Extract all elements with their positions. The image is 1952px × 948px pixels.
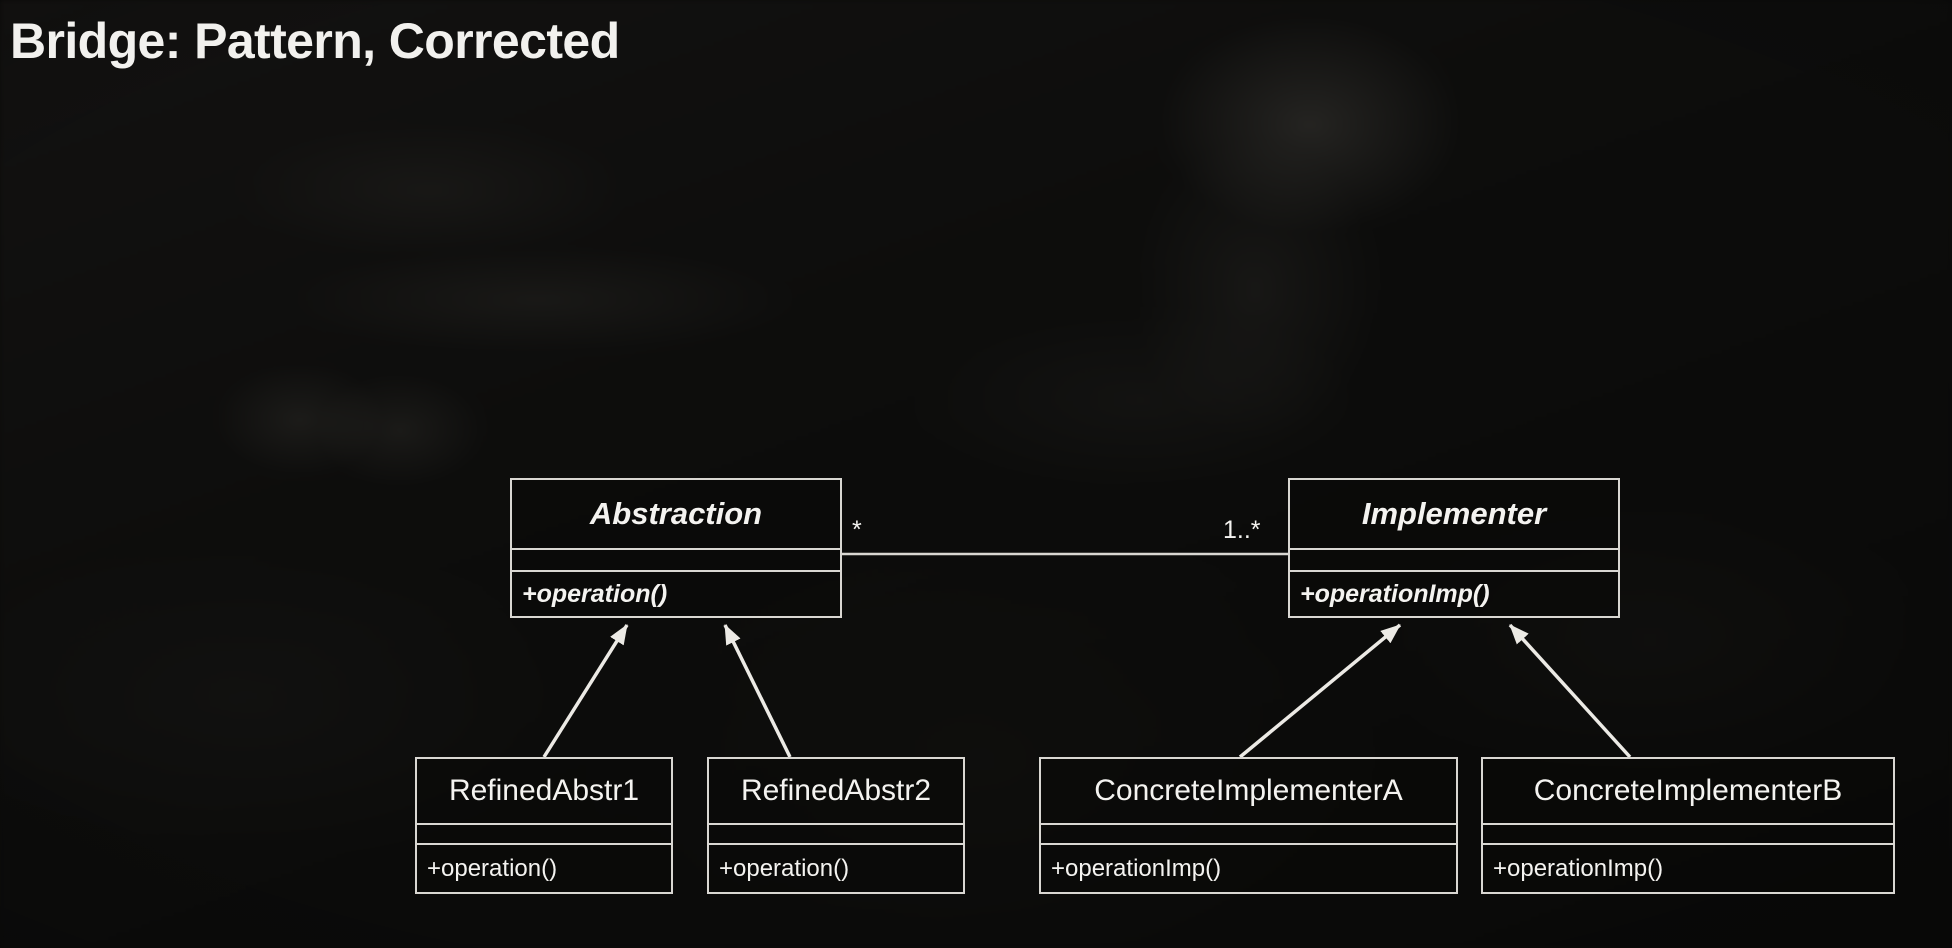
class-attributes-refined-abstr-2 bbox=[709, 823, 963, 843]
class-name-refined-abstr-1: RefinedAbstr1 bbox=[417, 759, 671, 823]
class-name-concrete-implementer-a: ConcreteImplementerA bbox=[1041, 759, 1456, 823]
multiplicity-target: 1..* bbox=[1223, 516, 1261, 545]
class-operation-implementer: +operationImp() bbox=[1290, 570, 1618, 616]
uml-class-implementer[interactable]: Implementer +operationImp() bbox=[1288, 478, 1620, 618]
uml-class-concrete-implementer-b[interactable]: ConcreteImplementerB +operationImp() bbox=[1481, 757, 1895, 894]
class-attributes-concrete-implementer-a bbox=[1041, 823, 1456, 843]
class-name-refined-abstr-2: RefinedAbstr2 bbox=[709, 759, 963, 823]
class-name-implementer: Implementer bbox=[1290, 480, 1618, 548]
slide-canvas: Bridge: Pattern, Corrected * 1..* bbox=[0, 0, 1952, 948]
generalization-line-concrete-implementer-a bbox=[1240, 625, 1400, 757]
class-attributes-implementer bbox=[1290, 548, 1618, 570]
generalization-line-concrete-implementer-b bbox=[1510, 625, 1630, 757]
class-operation-concrete-implementer-b: +operationImp() bbox=[1483, 843, 1893, 892]
class-operation-refined-abstr-1: +operation() bbox=[417, 843, 671, 892]
class-name-abstraction: Abstraction bbox=[512, 480, 840, 548]
class-attributes-concrete-implementer-b bbox=[1483, 823, 1893, 843]
uml-class-concrete-implementer-a[interactable]: ConcreteImplementerA +operationImp() bbox=[1039, 757, 1458, 894]
generalization-line-refined-abstr-2 bbox=[725, 625, 790, 757]
class-operation-abstraction: +operation() bbox=[512, 570, 840, 616]
class-attributes-abstraction bbox=[512, 548, 840, 570]
uml-class-refined-abstr-1[interactable]: RefinedAbstr1 +operation() bbox=[415, 757, 673, 894]
uml-class-abstraction[interactable]: Abstraction +operation() bbox=[510, 478, 842, 618]
generalization-line-refined-abstr-1 bbox=[544, 625, 627, 757]
class-operation-refined-abstr-2: +operation() bbox=[709, 843, 963, 892]
multiplicity-source: * bbox=[852, 516, 862, 545]
class-operation-concrete-implementer-a: +operationImp() bbox=[1041, 843, 1456, 892]
uml-class-refined-abstr-2[interactable]: RefinedAbstr2 +operation() bbox=[707, 757, 965, 894]
class-name-concrete-implementer-b: ConcreteImplementerB bbox=[1483, 759, 1893, 823]
class-attributes-refined-abstr-1 bbox=[417, 823, 671, 843]
uml-class-diagram: * 1..* Abstraction +operation() Implemen… bbox=[0, 0, 1952, 948]
